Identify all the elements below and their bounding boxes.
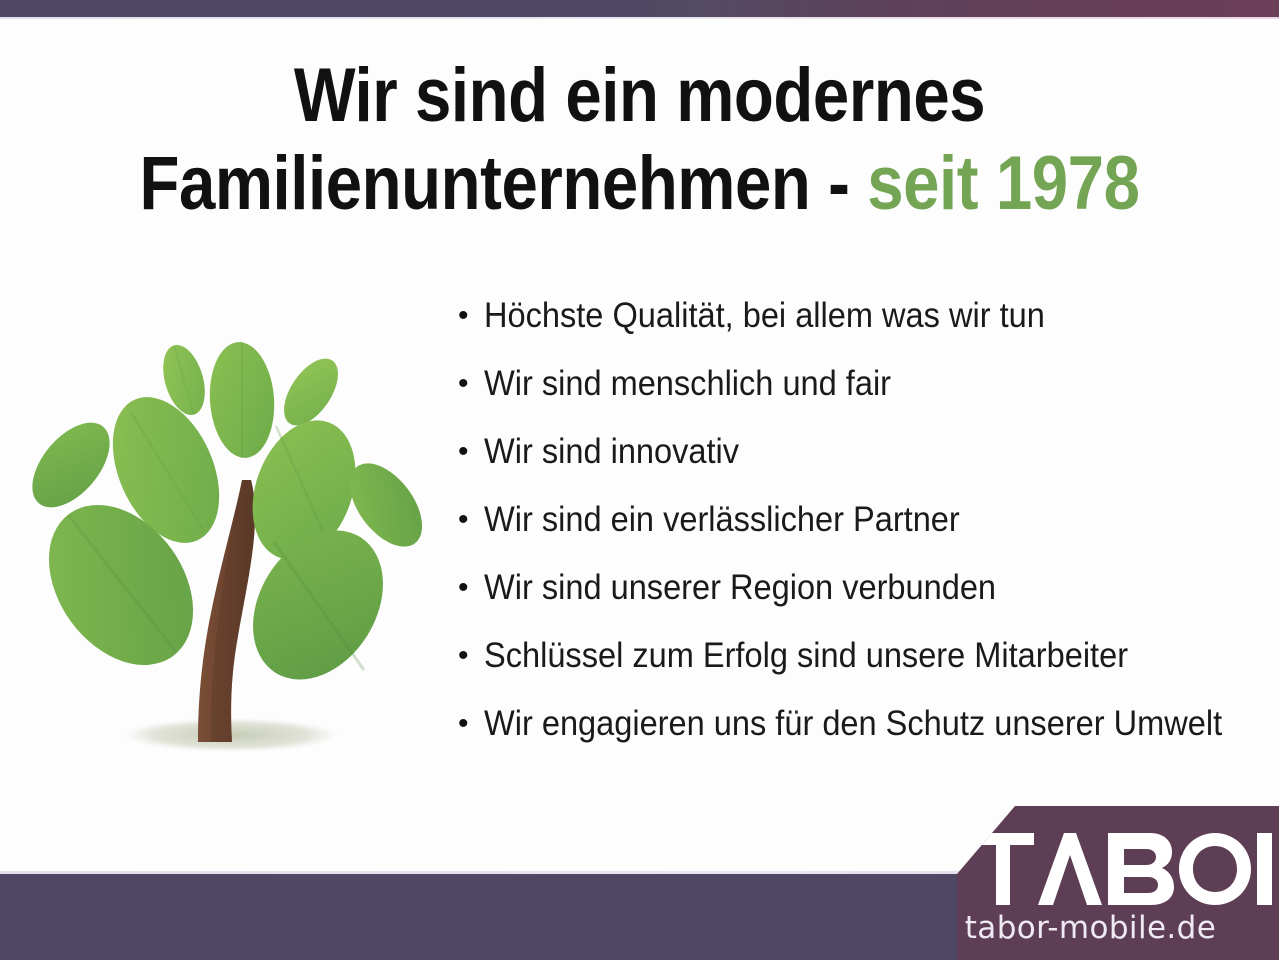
page-title-line-1: Wir sind ein modernes	[90, 52, 1190, 140]
bullet-dot-icon: •	[458, 505, 484, 535]
list-item: • Wir sind innovativ	[458, 432, 1268, 500]
page-title: Wir sind ein modernes Familienunternehme…	[90, 52, 1190, 228]
top-accent-bar-highlight	[0, 17, 1279, 19]
list-item: • Wir sind unserer Region verbunden	[458, 568, 1268, 636]
tabor-wordmark-icon	[972, 833, 1272, 905]
list-item-label: Wir sind innovativ	[484, 432, 1213, 472]
bullet-dot-icon: •	[458, 369, 484, 399]
bullet-dot-icon: •	[458, 437, 484, 467]
top-accent-bar	[0, 0, 1279, 17]
tree-logo-icon	[26, 330, 446, 760]
list-item: • Wir engagieren uns für den Schutz unse…	[458, 704, 1268, 772]
list-item: • Höchste Qualität, bei allem was wir tu…	[458, 296, 1268, 364]
list-item-label: Schlüssel zum Erfolg sind unsere Mitarbe…	[484, 636, 1213, 676]
bullet-dot-icon: •	[458, 573, 484, 603]
bullet-dot-icon: •	[458, 301, 484, 331]
tree-leaf	[26, 409, 125, 522]
list-item-label: Wir sind unserer Region verbunden	[484, 568, 1213, 608]
list-item-label: Höchste Qualität, bei allem was wir tun	[484, 296, 1213, 336]
bullet-dot-icon: •	[458, 709, 484, 739]
list-item-label: Wir engagieren uns für den Schutz unsere…	[484, 704, 1222, 744]
list-item: • Wir sind menschlich und fair	[458, 364, 1268, 432]
list-item-label: Wir sind menschlich und fair	[484, 364, 1213, 404]
list-item: • Wir sind ein verlässlicher Partner	[458, 500, 1268, 568]
tabor-logo-url[interactable]: tabor-mobile.de	[910, 910, 1279, 946]
tabor-logo-badge-inner: tabor-mobile.de	[910, 806, 1279, 960]
page-title-accent: seit 1978	[867, 141, 1139, 226]
list-item-label: Wir sind ein verlässlicher Partner	[484, 500, 1213, 540]
list-item: • Schlüssel zum Erfolg sind unsere Mitar…	[458, 636, 1268, 704]
value-list: • Höchste Qualität, bei allem was wir tu…	[458, 296, 1268, 772]
bullet-dot-icon: •	[458, 641, 484, 671]
page-title-line-2-plain: Familienunternehmen -	[139, 141, 867, 226]
page-title-line-2: Familienunternehmen - seit 1978	[90, 140, 1190, 228]
tabor-logo-badge[interactable]: tabor-mobile.de	[910, 806, 1279, 960]
slide-root: Wir sind ein modernes Familienunternehme…	[0, 0, 1279, 960]
